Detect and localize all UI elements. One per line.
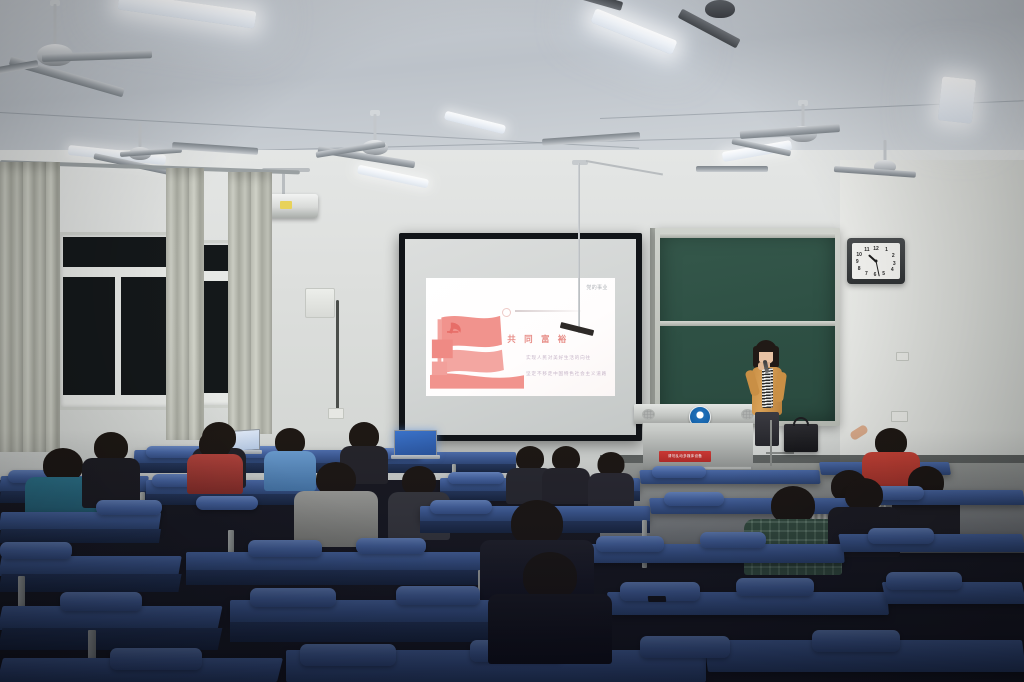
communist-party-flag-graphic <box>430 304 525 389</box>
chair-back <box>300 644 396 666</box>
classroom-scene: 党的事业 共 同 富 裕 实现人民对美好生活的向往 坚定不移走中国特色社会主义道… <box>0 0 1024 682</box>
student-dark-top-6 <box>586 452 636 506</box>
slide-brand-text: 党的事业 <box>586 284 607 291</box>
student-red-shirt-front <box>186 430 244 490</box>
ceiling-fan-1 <box>0 0 120 100</box>
chair-back <box>250 588 336 607</box>
window-pane <box>63 237 175 267</box>
phone-on-desk <box>648 596 667 602</box>
clock-numeral: 2 <box>892 253 895 259</box>
lectern-body: 请勿乱动多媒体设备 <box>643 423 753 470</box>
chair-back <box>0 542 72 559</box>
slide-subtitle-2: 坚定不移走中国特色社会主义道路 <box>526 371 607 377</box>
chalkboard-mid-rail <box>660 321 835 326</box>
briefcase-handle <box>793 417 809 426</box>
briefcase-on-stand <box>784 424 818 452</box>
chair-back <box>196 496 258 510</box>
ceiling-fan-6 <box>660 0 780 42</box>
student-dark-top-5 <box>540 446 592 502</box>
clock-numeral: 11 <box>864 247 869 253</box>
chair-back <box>596 536 664 552</box>
clock-numeral: 8 <box>858 266 861 272</box>
student-grey-shirt <box>292 462 380 546</box>
clock-numeral: 1 <box>885 247 888 253</box>
person-head <box>523 552 577 600</box>
presenter-skirt <box>755 412 779 446</box>
fluorescent-tube-3 <box>938 76 976 123</box>
clock-numeral: 9 <box>856 259 859 265</box>
chair-back <box>60 592 142 611</box>
presenter-striped-top <box>762 368 773 408</box>
desk-front-panel <box>186 570 486 585</box>
ceiling-fan-5 <box>820 146 950 206</box>
chair-back <box>664 492 724 506</box>
chair-back <box>812 630 900 652</box>
person-body <box>542 468 590 504</box>
person-body <box>488 594 612 664</box>
lectern-speaker-left-icon <box>642 409 655 420</box>
chair-back <box>356 538 426 554</box>
slide-header-rule <box>515 310 581 312</box>
wall-control-box[interactable] <box>305 288 335 318</box>
screen-pull-rod[interactable] <box>578 163 580 333</box>
wall-outlet-3[interactable] <box>896 352 909 361</box>
multimedia-lectern[interactable]: 请勿乱动多媒体设备 <box>634 404 762 470</box>
wall-outlet-2[interactable] <box>891 411 908 422</box>
chair-back <box>868 528 934 544</box>
projection-screen: 党的事业 共 同 富 裕 实现人民对美好生活的向往 坚定不移走中国特色社会主义道… <box>399 233 642 441</box>
clock-numeral: 4 <box>891 267 894 273</box>
chair-back <box>248 540 322 557</box>
clock-numeral: 7 <box>865 271 868 277</box>
bag-stand-base <box>766 452 794 454</box>
wall-clock: 12 1 2 3 4 5 6 7 8 9 10 11 <box>847 238 905 284</box>
wall-cable <box>336 300 339 412</box>
chair-back <box>640 636 730 658</box>
person-body <box>187 454 243 494</box>
window-pane <box>63 277 115 395</box>
bag-stand-post <box>770 420 772 466</box>
curtain-right <box>228 172 272 434</box>
clock-numeral: 3 <box>893 261 896 267</box>
chair-back <box>448 472 504 484</box>
desk-front-panel <box>0 628 222 650</box>
desk-row-4 <box>186 552 486 572</box>
presenter-hair-side <box>773 346 779 368</box>
laptop-center[interactable] <box>394 430 437 456</box>
window-left <box>58 232 178 410</box>
ceiling-fan-3 <box>300 110 450 180</box>
curtain-mid <box>166 168 204 440</box>
screen-surface: 党的事业 共 同 富 裕 实现人民对美好生活的向往 坚定不移走中国特色社会主义道… <box>405 239 636 435</box>
chair-back <box>396 586 480 605</box>
desk-front-panel <box>0 574 182 592</box>
chair-back <box>96 500 162 515</box>
student-dark-top-2 <box>80 432 142 506</box>
chair-back <box>700 532 766 548</box>
clock-face: 12 1 2 3 4 5 6 7 8 9 10 11 <box>852 243 900 279</box>
chair-back <box>652 466 706 478</box>
projector-label <box>280 201 292 209</box>
clock-numeral: 12 <box>873 246 879 252</box>
desk-front-panel <box>0 529 161 543</box>
chalkboard-top-rail <box>660 233 835 238</box>
student-dark-top-9 <box>486 552 614 658</box>
chair-back <box>110 648 202 670</box>
presentation-slide: 党的事业 共 同 富 裕 实现人民对美好生活的向往 坚定不移走中国特色社会主义道… <box>426 278 615 396</box>
lectern-sticker-text: 请勿乱动多媒体设备 <box>668 454 702 459</box>
clock-numeral: 6 <box>874 272 877 278</box>
chair-back <box>736 578 814 596</box>
wall-outlet-1[interactable] <box>328 408 344 419</box>
chair-back <box>886 572 962 590</box>
desk-row-4 <box>0 556 182 576</box>
curtain-left <box>0 162 60 452</box>
clock-numeral: 5 <box>882 271 885 277</box>
laptop-center-base <box>391 455 440 459</box>
slide-subtitle-1: 实现人民对美好生活的向往 <box>526 355 591 361</box>
lectern-warning-sticker: 请勿乱动多媒体设备 <box>659 451 711 462</box>
clock-center-pin <box>875 260 878 263</box>
clock-numeral: 10 <box>856 252 862 258</box>
